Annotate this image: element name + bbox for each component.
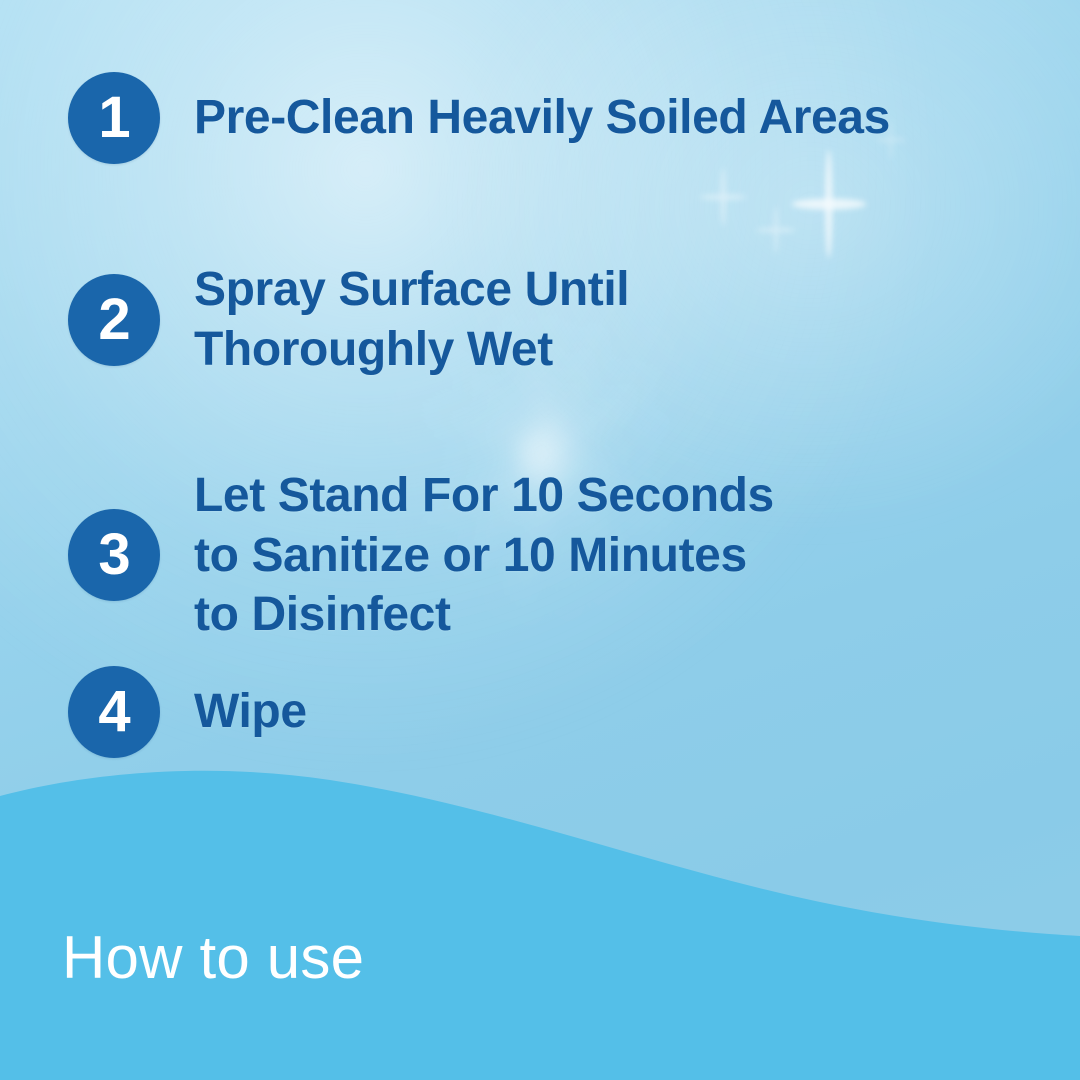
step-number-badge-4: 4 (68, 666, 160, 758)
how-to-use-infographic: 1 Pre-Clean Heavily Soiled Areas 2 Spray… (0, 0, 1080, 1080)
step-item-1: 1 Pre-Clean Heavily Soiled Areas (68, 72, 890, 164)
step-item-3: 3 Let Stand For 10 Seconds to Sanitize o… (68, 466, 774, 645)
wave-divider-icon (0, 750, 1080, 1080)
step-number-badge-1: 1 (68, 72, 160, 164)
page-title: How to use (62, 925, 364, 991)
step-number-badge-2: 2 (68, 274, 160, 366)
step-label-3: Let Stand For 10 Seconds to Sanitize or … (194, 466, 774, 645)
step-label-1: Pre-Clean Heavily Soiled Areas (194, 88, 890, 148)
step-label-2: Spray Surface Until Thoroughly Wet (194, 260, 629, 379)
step-number-badge-3: 3 (68, 509, 160, 601)
step-label-4: Wipe (194, 682, 307, 742)
step-item-4: 4 Wipe (68, 666, 307, 758)
step-item-2: 2 Spray Surface Until Thoroughly Wet (68, 260, 629, 379)
